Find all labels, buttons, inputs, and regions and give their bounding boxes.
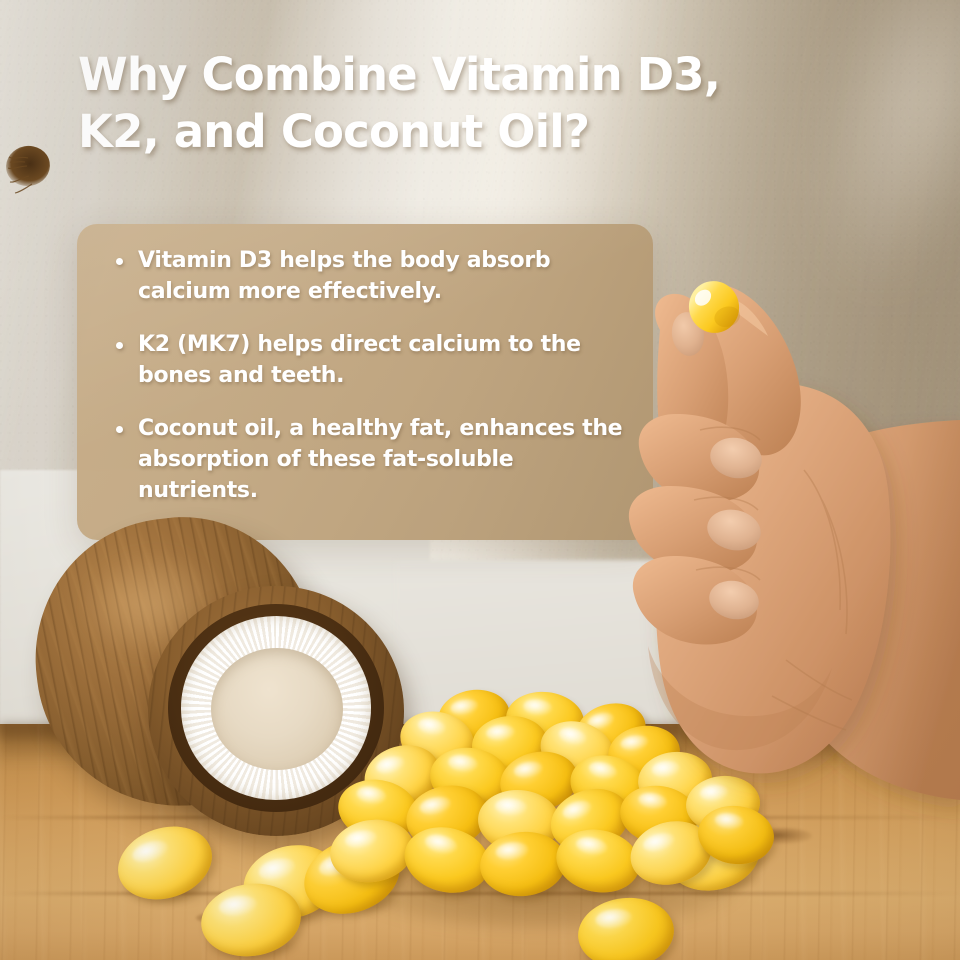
hand-holding-softgel [0, 0, 960, 960]
poster-canvas: Why Combine Vitamin D3, K2, and Coconut … [0, 0, 960, 960]
hand-illustration [0, 0, 960, 960]
